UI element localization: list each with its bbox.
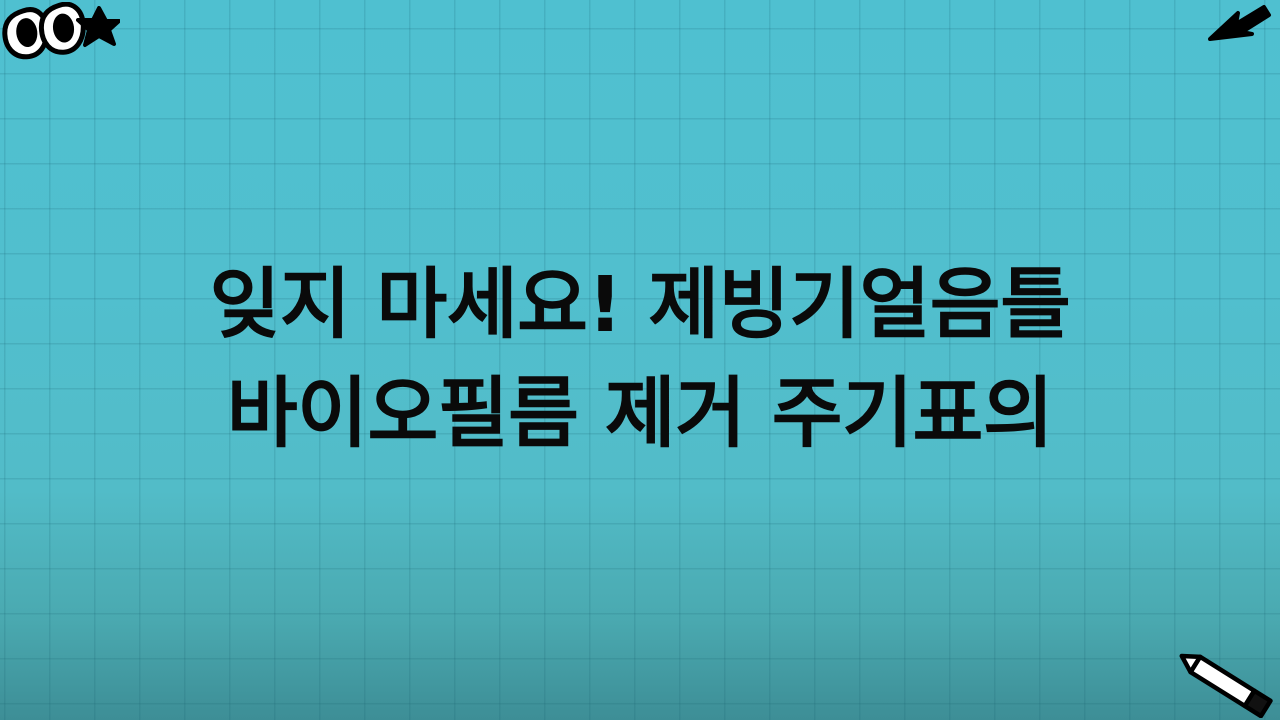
pencil-icon bbox=[1172, 648, 1278, 718]
thumbnail-canvas: 잊지 마세요! 제빙기얼음틀 바이오필름 제거 주기표의 bbox=[0, 0, 1280, 720]
background-grid-pattern bbox=[0, 0, 1280, 720]
star-icon bbox=[76, 6, 120, 48]
arrow-icon bbox=[1206, 2, 1272, 52]
